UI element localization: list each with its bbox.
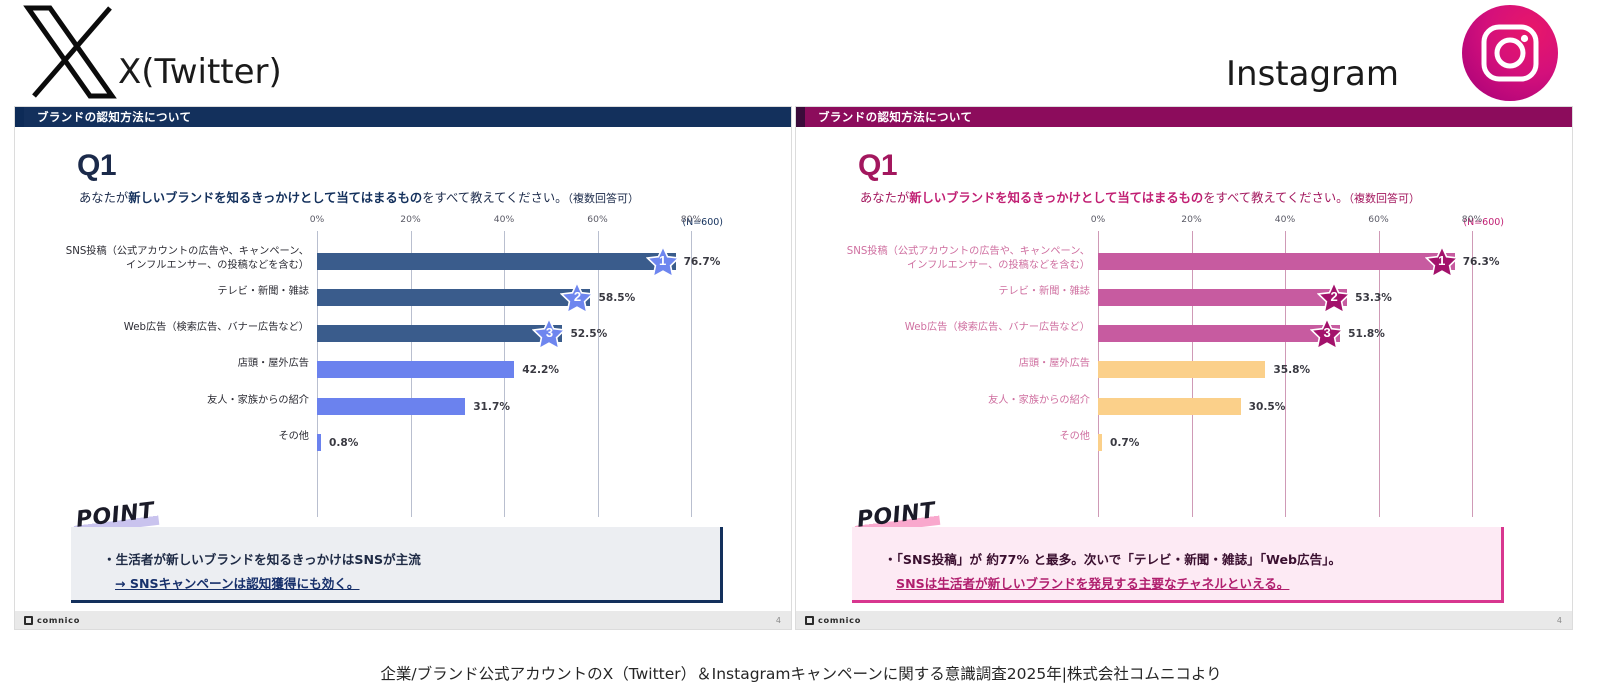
- q-text-paren: （複数回答可）: [1348, 192, 1420, 205]
- bar-fill: [317, 434, 321, 451]
- point-box-x: ・生活者が新しいブランドを知るきっかけはSNSが主流 → SNSキャンペーンは認…: [71, 527, 723, 603]
- q-text-bold: 新しいブランドを知るきっかけとして当てはまるもの: [128, 191, 422, 205]
- axis-tick-80: 80%: [1462, 214, 1482, 225]
- axis-tick-60: 60%: [587, 214, 607, 225]
- bar-chart-instagram: SNS投稿（公式アカウントの広告や、キャンペーン、インフルエンサー、の投稿などを…: [796, 231, 1574, 517]
- slide-header-bar-x: ブランドの認知方法について: [15, 107, 791, 127]
- bar: 31.7%: [317, 398, 465, 415]
- bar-value-label: 0.8%: [329, 437, 358, 449]
- question-number-instagram: Q1: [858, 149, 897, 183]
- slide-header-title-instagram: ブランドの認知方法について: [818, 109, 972, 125]
- rank-number: 3: [532, 317, 566, 351]
- bar: 0.7%: [1098, 434, 1102, 451]
- brand-title-instagram: Instagram: [1226, 54, 1399, 94]
- category-label: 店頭・屋外広告: [238, 357, 309, 371]
- bar-value-label: 0.7%: [1110, 437, 1139, 449]
- chart-categories-x: SNS投稿（公式アカウントの広告や、キャンペーン、インフルエンサー、の投稿などを…: [15, 231, 317, 517]
- rank-star-badge: 1: [646, 245, 680, 279]
- axis-tick-20: 20%: [400, 214, 420, 225]
- rank-star-badge: 3: [532, 317, 566, 351]
- bar-value-label: 51.8%: [1348, 328, 1385, 340]
- question-number-x: Q1: [77, 149, 116, 183]
- rank-number: 3: [1310, 317, 1344, 351]
- category-label: テレビ・新聞・雑誌: [998, 285, 1090, 299]
- bar-fill: [317, 398, 465, 415]
- instagram-camera-glyph-icon: [1480, 23, 1540, 83]
- axis-tick-40: 40%: [1275, 214, 1295, 225]
- bar-fill: [1098, 325, 1340, 342]
- slide-footer-instagram: comnico 4: [796, 611, 1572, 629]
- rank-number: 2: [1317, 281, 1351, 315]
- bar: 0.8%: [317, 434, 321, 451]
- slide-header-title-x: ブランドの認知方法について: [37, 109, 191, 125]
- rank-star-badge: 2: [1317, 281, 1351, 315]
- x-twitter-logo-icon: [20, 2, 120, 102]
- bar-value-label: 42.2%: [522, 364, 559, 376]
- axis-tick-80: 80%: [681, 214, 701, 225]
- bar-value-label: 58.5%: [598, 292, 635, 304]
- category-label: Web広告（検索広告、バナー広告など）: [124, 321, 309, 335]
- slide-comparison-root: X(Twitter) ブランドの認知方法について Q1 あなたが新しいブランドを…: [0, 0, 1602, 698]
- rank-star-badge: 3: [1310, 317, 1344, 351]
- comnico-mark-icon: [805, 616, 814, 625]
- point-line1-instagram: ・「SNS投稿」が 約77% と最多。次いで「テレビ・新聞・雑誌」「Web広告」…: [884, 549, 1341, 568]
- bar: 52.5%3: [317, 325, 562, 342]
- slide-body-x: Q1 あなたが新しいブランドを知るきっかけとして当てはまるものをすべて教えてくだ…: [15, 127, 791, 613]
- point-box-instagram: ・「SNS投稿」が 約77% と最多。次いで「テレビ・新聞・雑誌」「Web広告」…: [852, 527, 1504, 603]
- comnico-logo-x: comnico: [24, 615, 80, 625]
- bar-fill: [317, 325, 562, 342]
- slide-body-instagram: Q1 あなたが新しいブランドを知るきっかけとして当てはまるものをすべて教えてくだ…: [796, 127, 1572, 613]
- brand-header-x: X(Twitter): [14, 0, 792, 106]
- bar: 53.3%2: [1098, 289, 1347, 306]
- gridline-60: [598, 231, 599, 517]
- category-label: Web広告（検索広告、バナー広告など）: [905, 321, 1090, 335]
- bar-fill: [1098, 361, 1265, 378]
- slide-header-accent-instagram: [796, 107, 805, 127]
- brand-header-instagram: Instagram: [795, 0, 1573, 106]
- category-label: 友人・家族からの紹介: [988, 394, 1090, 408]
- axis-tick-20: 20%: [1181, 214, 1201, 225]
- bar: 30.5%: [1098, 398, 1241, 415]
- category-label: SNS投稿（公式アカウントの広告や、キャンペーン、インフルエンサー、の投稿などを…: [66, 245, 309, 273]
- axis-tick-0: 0%: [1091, 214, 1106, 225]
- chart-axis-labels-x: 0%20%40%60%80%: [317, 214, 691, 228]
- chart-categories-instagram: SNS投稿（公式アカウントの広告や、キャンペーン、インフルエンサー、の投稿などを…: [796, 231, 1098, 517]
- rank-number: 2: [560, 281, 594, 315]
- question-text-x: あなたが新しいブランドを知るきっかけとして当てはまるものをすべて教えてください。…: [79, 188, 639, 206]
- source-caption: 企業/ブランド公式アカウントのX（Twitter）＆Instagramキャンペー…: [0, 662, 1602, 684]
- slide-page-number-x: 4: [776, 616, 781, 625]
- gridline-80: [1472, 231, 1473, 517]
- category-label: 友人・家族からの紹介: [207, 394, 309, 408]
- instagram-logo-icon: [1462, 5, 1558, 101]
- question-text-instagram: あなたが新しいブランドを知るきっかけとして当てはまるものをすべて教えてください。…: [860, 188, 1420, 206]
- bar-fill: [317, 253, 676, 270]
- rank-star-badge: 1: [1425, 245, 1459, 279]
- bar-value-label: 30.5%: [1249, 401, 1286, 413]
- comnico-wordmark-x: comnico: [37, 615, 80, 625]
- bar-value-label: 35.8%: [1273, 364, 1310, 376]
- panel-x-twitter: X(Twitter) ブランドの認知方法について Q1 あなたが新しいブランドを…: [14, 0, 792, 638]
- bar: 58.5%2: [317, 289, 590, 306]
- slide-page-number-instagram: 4: [1557, 616, 1562, 625]
- chart-axis-labels-instagram: 0%20%40%60%80%: [1098, 214, 1472, 228]
- bar: 76.3%1: [1098, 253, 1455, 270]
- slide-header-accent-x: [15, 107, 24, 127]
- chart-plot-area-instagram: 76.3%153.3%251.8%335.8%30.5%0.7%: [1098, 231, 1472, 517]
- bar-value-label: 53.3%: [1355, 292, 1392, 304]
- axis-tick-40: 40%: [494, 214, 514, 225]
- slide-card-x: ブランドの認知方法について Q1 あなたが新しいブランドを知るきっかけとして当て…: [14, 106, 792, 630]
- bar-value-label: 76.7%: [684, 256, 721, 268]
- q-text-part2: をすべて教えてください。: [422, 191, 567, 205]
- bar: 42.2%: [317, 361, 514, 378]
- category-label: SNS投稿（公式アカウントの広告や、キャンペーン、インフルエンサー、の投稿などを…: [847, 245, 1090, 273]
- q-text-paren: （複数回答可）: [567, 192, 639, 205]
- bar: 76.7%1: [317, 253, 676, 270]
- slide-header-bar-instagram: ブランドの認知方法について: [796, 107, 1572, 127]
- point-line2-instagram: SNSは生活者が新しいブランドを発見する主要なチャネルといえる。: [896, 573, 1289, 592]
- category-label: その他: [278, 430, 309, 444]
- gridline-60: [1379, 231, 1380, 517]
- q-text-part2: をすべて教えてください。: [1203, 191, 1348, 205]
- category-label: その他: [1059, 430, 1090, 444]
- category-label: テレビ・新聞・雑誌: [217, 285, 309, 299]
- bar-fill: [317, 361, 514, 378]
- bar-fill: [317, 289, 590, 306]
- comnico-logo-instagram: comnico: [805, 615, 861, 625]
- q-text-part1: あなたが: [79, 191, 128, 205]
- bar-fill: [1098, 289, 1347, 306]
- point-line1-x: ・生活者が新しいブランドを知るきっかけはSNSが主流: [103, 549, 421, 568]
- category-label: 店頭・屋外広告: [1019, 357, 1090, 371]
- panel-instagram: Instagram ブランドの認知方法について Q1 あなたが新しいブランドを知…: [795, 0, 1573, 638]
- bar-value-label: 31.7%: [473, 401, 510, 413]
- gridline-80: [691, 231, 692, 517]
- bar-value-label: 76.3%: [1463, 256, 1500, 268]
- chart-plot-area-x: 76.7%158.5%252.5%342.2%31.7%0.8%: [317, 231, 691, 517]
- slide-footer-x: comnico 4: [15, 611, 791, 629]
- comnico-wordmark-instagram: comnico: [818, 615, 861, 625]
- axis-tick-0: 0%: [310, 214, 325, 225]
- slide-card-instagram: ブランドの認知方法について Q1 あなたが新しいブランドを知るきっかけとして当て…: [795, 106, 1573, 630]
- brand-title-x: X(Twitter): [118, 52, 282, 92]
- rank-number: 1: [646, 245, 680, 279]
- bar-fill: [1098, 253, 1455, 270]
- bar-fill: [1098, 434, 1102, 451]
- rank-number: 1: [1425, 245, 1459, 279]
- axis-tick-60: 60%: [1368, 214, 1388, 225]
- rank-star-badge: 2: [560, 281, 594, 315]
- comnico-mark-icon: [24, 616, 33, 625]
- bar: 35.8%: [1098, 361, 1265, 378]
- q-text-bold: 新しいブランドを知るきっかけとして当てはまるもの: [909, 191, 1203, 205]
- bar-value-label: 52.5%: [570, 328, 607, 340]
- bar-chart-x: SNS投稿（公式アカウントの広告や、キャンペーン、インフルエンサー、の投稿などを…: [15, 231, 793, 517]
- bar-fill: [1098, 398, 1241, 415]
- q-text-part1: あなたが: [860, 191, 909, 205]
- point-line2-x: → SNSキャンペーンは認知獲得にも効く。: [115, 573, 360, 592]
- bar: 51.8%3: [1098, 325, 1340, 342]
